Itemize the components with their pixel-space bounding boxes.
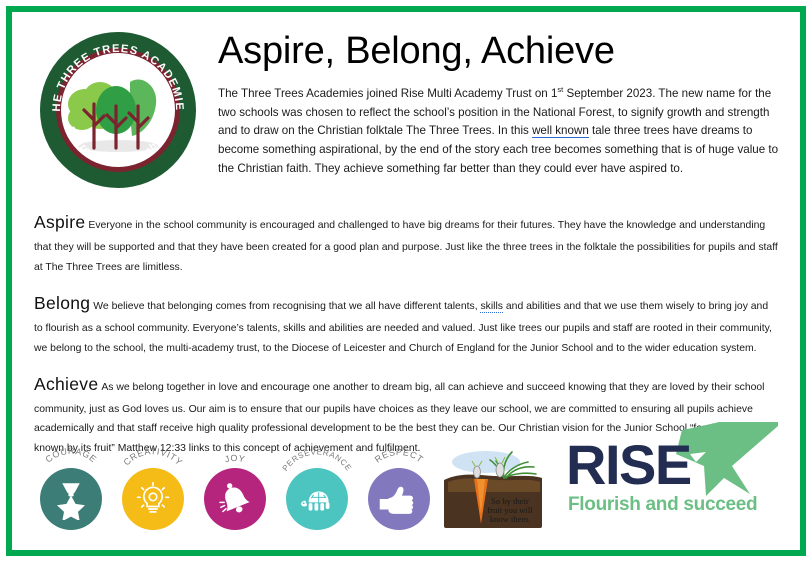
footer: COURAGE <box>34 420 790 538</box>
rise-wordmark: RISE <box>566 433 691 496</box>
medal-star-icon <box>40 468 102 530</box>
intro-text-1: The Three Trees Academies joined Rise Mu… <box>218 87 557 100</box>
document-page: THE THREE TREES ACADEMIES Aspire, Belong… <box>0 0 812 562</box>
section-body-aspire: Everyone in the school community is enco… <box>34 220 778 273</box>
section-heading-aspire: Aspire <box>34 212 85 232</box>
svg-text:JOY: JOY <box>224 453 247 464</box>
tortoise-icon <box>286 468 348 530</box>
section-belong: BelongWe believe that belonging comes fr… <box>34 287 778 358</box>
value-badge-perseverance: PERSEVERANCE <box>280 438 354 538</box>
value-badge-creativity: CREATIVITY <box>116 438 190 538</box>
bell-icon <box>204 468 266 530</box>
intro-paragraph: The Three Trees Academies joined Rise Mu… <box>218 84 780 179</box>
rise-tagline: Flourish and succeed <box>568 494 757 515</box>
section-body-belong-1: We believe that belonging comes from rec… <box>93 301 480 312</box>
lightbulb-icon <box>122 468 184 530</box>
value-label-courage: COURAGE <box>43 446 98 465</box>
svg-text:RESPECT: RESPECT <box>373 447 425 465</box>
header-text-block: Aspire, Belong, Achieve The Three Trees … <box>216 26 782 179</box>
school-logo: THE THREE TREES ACADEMIES Aspire, Belong… <box>38 30 198 190</box>
value-badge-respect: RESPECT <box>362 438 436 538</box>
value-badge-courage: COURAGE <box>34 438 108 538</box>
thumbs-up-icon <box>368 468 430 530</box>
rise-arrow-bird-icon <box>676 422 778 496</box>
three-trees-logo-icon: THE THREE TREES ACADEMIES Aspire, Belong… <box>38 30 198 190</box>
carrot-fruit-illustration: So by their fruit you will know them. <box>444 442 542 528</box>
value-label-joy: JOY <box>224 453 247 464</box>
header: THE THREE TREES ACADEMIES Aspire, Belong… <box>30 26 782 190</box>
value-label-creativity: CREATIVITY <box>122 446 185 467</box>
value-label-respect: RESPECT <box>373 447 425 465</box>
value-badges: COURAGE <box>34 438 436 538</box>
grammar-underlined-word: skills <box>480 301 503 313</box>
section-heading-belong: Belong <box>34 293 90 313</box>
rise-trust-logo: RISE Flourish and succeed <box>564 422 779 532</box>
spellcheck-underlined-phrase: well known <box>532 124 589 138</box>
section-heading-achieve: Achieve <box>34 374 98 394</box>
section-aspire: AspireEveryone in the school community i… <box>34 206 778 277</box>
page-title: Aspire, Belong, Achieve <box>218 32 782 72</box>
document-body: THE THREE TREES ACADEMIES Aspire, Belong… <box>12 12 800 550</box>
svg-text:COURAGE: COURAGE <box>43 446 98 465</box>
fruit-caption-line3: know them. <box>490 514 531 524</box>
green-border-frame: THE THREE TREES ACADEMIES Aspire, Belong… <box>6 6 806 556</box>
value-badge-joy: JOY <box>198 438 272 538</box>
svg-text:CREATIVITY: CREATIVITY <box>122 446 185 467</box>
